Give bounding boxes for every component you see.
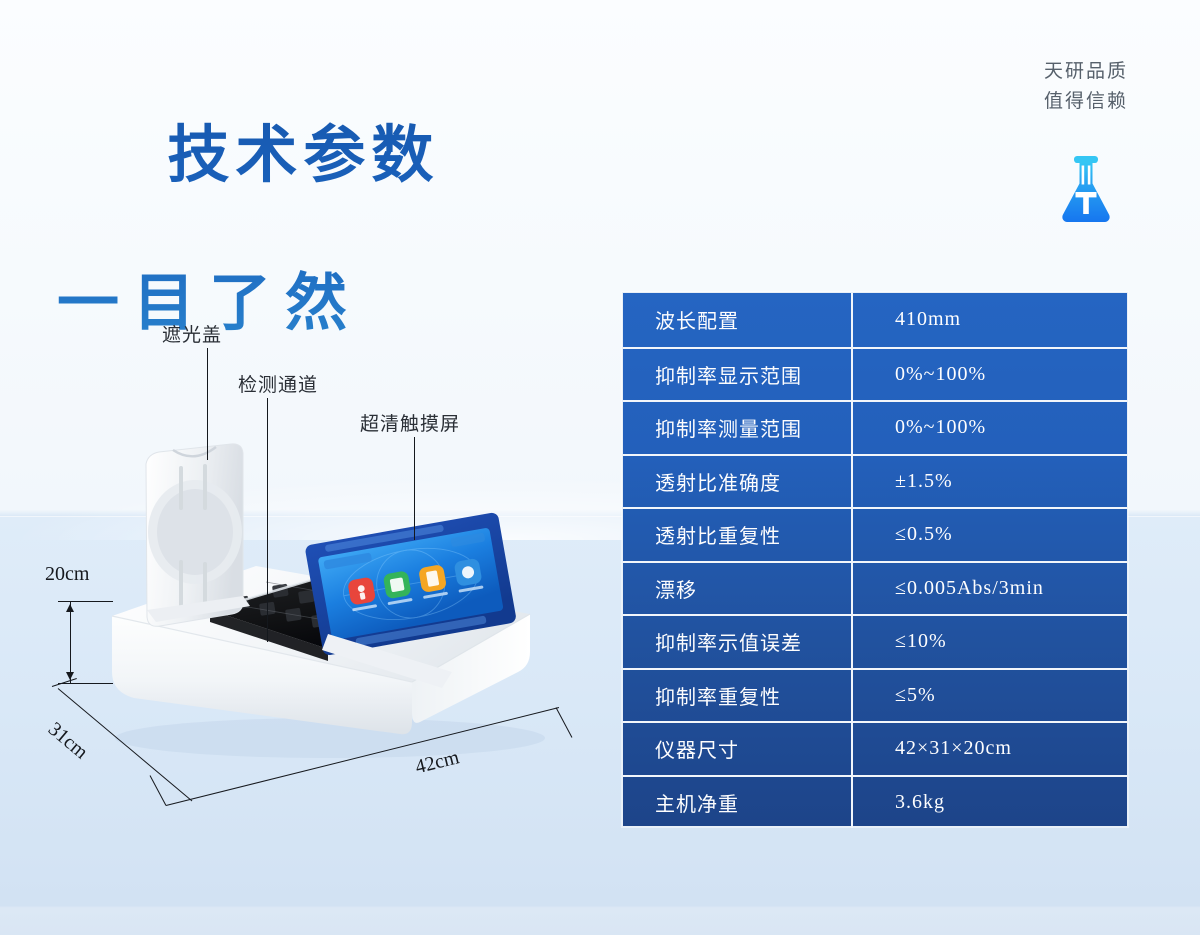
flask-icon xyxy=(1055,152,1117,224)
table-row: 抑制率显示范围 0%~100% xyxy=(623,347,1127,401)
dimension-cap-height-bottom xyxy=(58,683,113,684)
spec-value: ±1.5% xyxy=(853,456,1127,508)
spec-value: 410mm xyxy=(853,293,1127,347)
table-row: 透射比重复性 ≤0.5% xyxy=(623,507,1127,561)
page-title-line1: 技术参数 xyxy=(167,118,439,191)
spec-value: ≤10% xyxy=(853,616,1127,668)
dimension-line-height xyxy=(70,601,71,683)
brand-slogan: 天研品质 值得信赖 xyxy=(1044,56,1128,116)
dimension-label-height: 20cm xyxy=(45,563,89,586)
callout-label-detection-channel: 检测通道 xyxy=(238,370,318,397)
spec-value: 0%~100% xyxy=(853,402,1127,454)
callout-leader-line-shade-cover xyxy=(207,348,208,460)
dimension-cap-height-top xyxy=(58,601,113,602)
spec-value: 0%~100% xyxy=(853,349,1127,401)
brand-slogan-line2: 值得信赖 xyxy=(1044,86,1128,116)
spec-value: ≤0.005Abs/3min xyxy=(853,563,1127,615)
spec-value: 42×31×20cm xyxy=(853,723,1127,775)
spec-key: 漂移 xyxy=(623,563,853,615)
callout-label-touchscreen: 超清触摸屏 xyxy=(360,409,460,436)
spec-key: 仪器尺寸 xyxy=(623,723,853,775)
table-row: 仪器尺寸 42×31×20cm xyxy=(623,721,1127,775)
callout-leader-line-touchscreen xyxy=(414,437,415,540)
spec-key: 抑制率显示范围 xyxy=(623,349,853,401)
spec-value: ≤0.5% xyxy=(853,509,1127,561)
table-row: 透射比准确度 ±1.5% xyxy=(623,454,1127,508)
brand-slogan-line1: 天研品质 xyxy=(1044,56,1128,86)
spec-key: 透射比重复性 xyxy=(623,509,853,561)
dimension-arrow-height-up xyxy=(66,604,74,612)
product-illustration xyxy=(60,420,580,780)
spec-key: 主机净重 xyxy=(623,777,853,829)
spec-key: 透射比准确度 xyxy=(623,456,853,508)
table-row: 漂移 ≤0.005Abs/3min xyxy=(623,561,1127,615)
page-title-line2: 一目了然 xyxy=(57,266,439,340)
table-row: 主机净重 3.6kg xyxy=(623,775,1127,829)
table-row: 抑制率重复性 ≤5% xyxy=(623,668,1127,722)
table-row: 抑制率测量范围 0%~100% xyxy=(623,400,1127,454)
specification-table: 波长配置 410mm 抑制率显示范围 0%~100% 抑制率测量范围 0%~10… xyxy=(622,292,1128,827)
spec-key: 波长配置 xyxy=(623,293,853,347)
spec-value: ≤5% xyxy=(853,670,1127,722)
table-row: 抑制率示值误差 ≤10% xyxy=(623,614,1127,668)
spec-key: 抑制率测量范围 xyxy=(623,402,853,454)
spec-key: 抑制率重复性 xyxy=(623,670,853,722)
spec-value: 3.6kg xyxy=(853,777,1127,829)
table-row: 波长配置 410mm xyxy=(623,293,1127,347)
page-root: 技术参数 一目了然 天研品质 值得信赖 xyxy=(0,0,1200,935)
callout-label-shade-cover: 遮光盖 xyxy=(162,320,222,347)
callout-leader-line-detection-channel xyxy=(267,398,268,642)
spec-key: 抑制率示值误差 xyxy=(623,616,853,668)
